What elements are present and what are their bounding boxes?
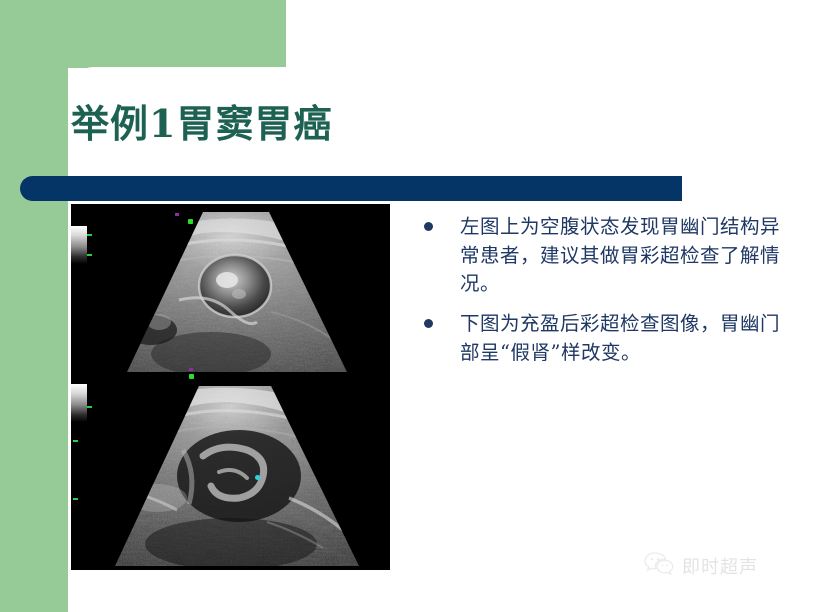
- marker-dot-green: [189, 374, 194, 379]
- ultrasound-sector-top: [71, 204, 390, 380]
- wechat-icon: [644, 551, 674, 581]
- bullet-list: 左图上为空腹状态发现胃幽门结构异常患者，建议其做胃彩超检查了解情况。 下图为充盈…: [424, 213, 784, 378]
- grayscale-reference-bar-bottom: [71, 384, 87, 422]
- grayscale-reference-bar-top: [71, 226, 87, 264]
- bullet-text: 下图为充盈后彩超检查图像，胃幽门部呈“假肾”样改变。: [460, 310, 784, 367]
- scale-tick-icon: [73, 498, 78, 500]
- marker-dot-cyan: [255, 475, 260, 480]
- scale-tick-icon: [87, 406, 92, 408]
- marker-dot-purple: [175, 213, 179, 216]
- scale-tick-icon: [73, 440, 78, 442]
- title-underline-bar: [20, 176, 682, 201]
- ultrasound-image-filled: [71, 380, 390, 570]
- ultrasound-image-fasting: [71, 204, 390, 380]
- green-side-strip: [0, 0, 68, 612]
- watermark-text: 即时超声: [682, 553, 758, 579]
- marker-dot-green: [188, 219, 193, 224]
- watermark: 即时超声: [644, 551, 758, 581]
- list-item: 左图上为空腹状态发现胃幽门结构异常患者，建议其做胃彩超检查了解情况。: [424, 213, 784, 299]
- ultrasound-sector-bottom: [71, 380, 390, 570]
- bullet-point-icon: [424, 319, 433, 328]
- scale-tick-icon: [87, 254, 92, 256]
- presentation-slide: 举例1胃窦胃癌: [0, 0, 817, 612]
- bullet-point-icon: [424, 222, 433, 231]
- list-item: 下图为充盈后彩超检查图像，胃幽门部呈“假肾”样改变。: [424, 310, 784, 367]
- page-title: 举例1胃窦胃癌: [71, 93, 332, 148]
- marker-dot-purple: [189, 368, 193, 371]
- bullet-text: 左图上为空腹状态发现胃幽门结构异常患者，建议其做胃彩超检查了解情况。: [460, 213, 784, 299]
- scale-tick-icon: [87, 234, 92, 236]
